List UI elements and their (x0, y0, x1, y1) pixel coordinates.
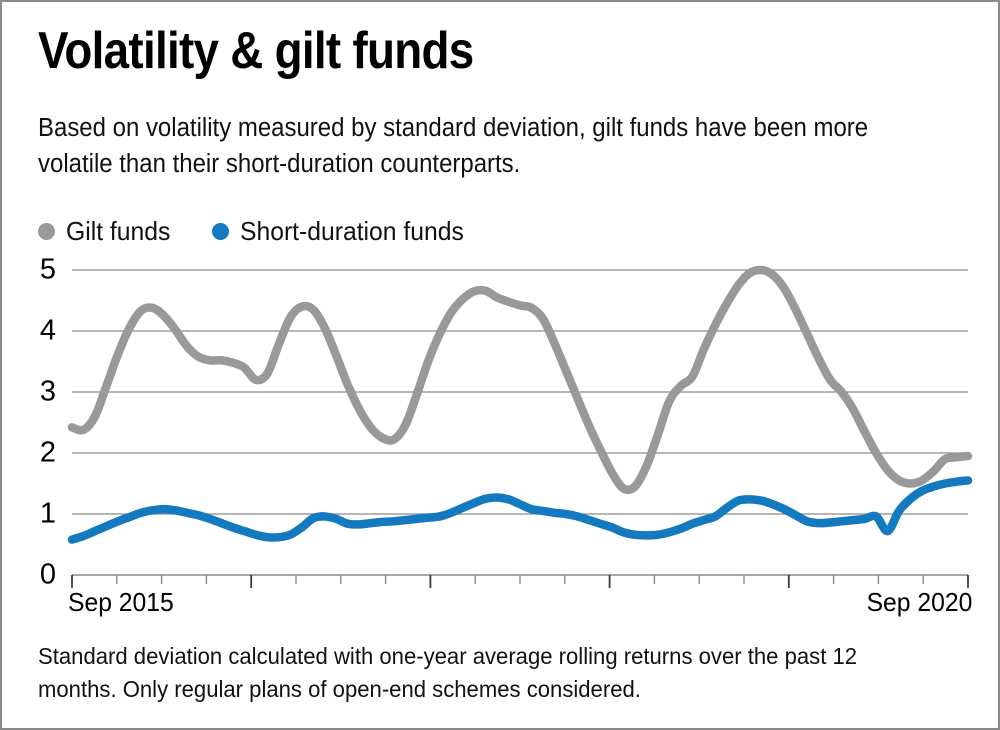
y-axis-tick-label: 3 (22, 376, 56, 409)
y-axis-tick-label: 2 (22, 437, 56, 470)
x-axis-start-label: Sep 2015 (68, 587, 174, 618)
series-line-short-duration-funds (72, 480, 968, 539)
y-axis-tick-label: 0 (22, 559, 56, 592)
y-axis-tick-label: 4 (22, 315, 56, 348)
x-axis-end-label: Sep 2020 (866, 587, 972, 618)
plot-area: 012345 Sep 2015Sep 2020 (2, 2, 1000, 730)
series-line-gilt-funds (72, 270, 968, 490)
chart-canvas (2, 2, 1000, 730)
y-axis-tick-label: 1 (22, 498, 56, 531)
chart-figure: Volatility & gilt funds Based on volatil… (0, 0, 1000, 730)
chart-footnote: Standard deviation calculated with one-y… (38, 640, 912, 707)
y-axis-tick-label: 5 (22, 254, 56, 287)
